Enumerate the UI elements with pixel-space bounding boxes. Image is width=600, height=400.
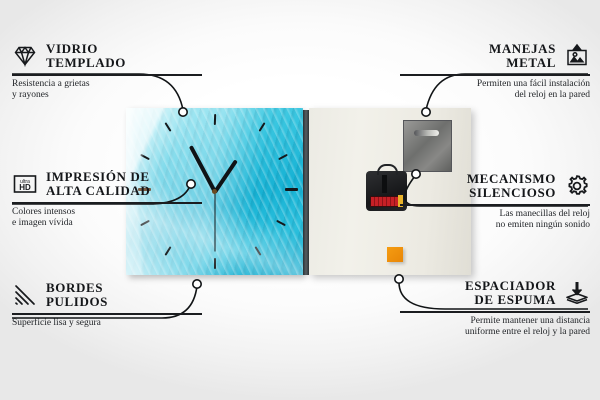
ultra-hd-icon-bottom: HD <box>19 183 31 192</box>
feature-divider <box>12 74 202 76</box>
feature-espaciador-espuma: ESPACIADOR DE ESPUMA Permite mantener un… <box>400 279 590 338</box>
foam-spacer-icon <box>564 280 590 306</box>
feature-title-line2: METAL <box>506 55 556 70</box>
feature-title: MECANISMO SILENCIOSO <box>467 172 556 200</box>
feature-description: Superficie lisa y segura <box>12 318 202 329</box>
feature-description: Permite mantener una distancia uniforme … <box>400 316 590 338</box>
clock-tick <box>258 122 265 132</box>
feature-desc-line2: no emiten ningún sonido <box>496 220 590 230</box>
picture-hanger-icon <box>564 43 590 69</box>
clock-tick <box>164 122 171 132</box>
feature-vidrio-templado: VIDRIO TEMPLADO Resistencia a grietas y … <box>12 42 202 101</box>
feature-title-line1: IMPRESIÓN DE <box>46 169 150 184</box>
clock-second-hand <box>214 192 215 252</box>
feature-divider <box>400 204 590 206</box>
feature-desc-line1: Permite mantener una distancia <box>471 316 591 326</box>
clock-tick <box>140 154 150 160</box>
feature-header: MECANISMO SILENCIOSO <box>400 172 590 200</box>
feature-desc-line1: Las manecillas del reloj <box>500 209 590 219</box>
clock-hour-hand <box>213 159 238 193</box>
feature-desc-line2: uniforme entre el reloj y la pared <box>465 327 590 337</box>
feature-title-line1: MECANISMO <box>467 171 556 186</box>
feature-desc-line1: Resistencia a grietas <box>12 79 90 89</box>
feature-desc-line1: Superficie lisa y segura <box>12 318 101 328</box>
feature-title: MANEJAS METAL <box>489 42 556 70</box>
feature-desc-line2: del reloj en la pared <box>515 90 590 100</box>
battery <box>370 196 403 207</box>
clock-tick <box>164 246 171 256</box>
feature-title: ESPACIADOR DE ESPUMA <box>465 279 556 307</box>
clock-tick <box>214 258 216 269</box>
feature-desc-line1: Permiten una fácil instalación <box>477 79 590 89</box>
feature-header: ultra HD IMPRESIÓN DE ALTA CALIDAD <box>12 170 202 198</box>
clock-tick <box>213 114 215 125</box>
feature-title-line1: MANEJAS <box>489 41 556 56</box>
feature-divider <box>12 313 202 315</box>
feature-title-line2: DE ESPUMA <box>474 292 556 307</box>
feature-title: VIDRIO TEMPLADO <box>46 42 126 70</box>
clock-tick <box>276 220 286 226</box>
feature-header: BORDES PULIDOS <box>12 281 202 309</box>
mechanism-shaft <box>382 175 387 193</box>
feature-mecanismo-silencioso: MECANISMO SILENCIOSO Las manecillas del … <box>400 172 590 231</box>
clock-tick <box>278 154 288 160</box>
feature-header: ESPACIADOR DE ESPUMA <box>400 279 590 307</box>
feature-impresion-alta-calidad: ultra HD IMPRESIÓN DE ALTA CALIDAD Color… <box>12 170 202 229</box>
feature-title: IMPRESIÓN DE ALTA CALIDAD <box>46 170 150 198</box>
hanger-slot <box>414 130 439 136</box>
polished-edges-icon <box>12 282 38 308</box>
clock-center-hub <box>212 189 217 194</box>
feature-title-line2: ALTA CALIDAD <box>46 183 150 198</box>
feature-desc-line2: y rayones <box>12 90 49 100</box>
feature-title-line2: SILENCIOSO <box>469 185 556 200</box>
diamond-icon <box>12 43 38 69</box>
feature-title: BORDES PULIDOS <box>46 281 108 309</box>
feature-title-line2: PULIDOS <box>46 294 108 309</box>
feature-title-line1: ESPACIADOR <box>465 278 556 293</box>
feature-bordes-pulidos: BORDES PULIDOS Superficie lisa y segura <box>12 281 202 329</box>
feature-description: Colores intensos e imagen vívida <box>12 207 202 229</box>
clock-tick <box>285 188 298 191</box>
feature-divider <box>400 311 590 313</box>
feature-title-line2: TEMPLADO <box>46 55 126 70</box>
mechanism-loop <box>377 164 398 175</box>
feature-header: VIDRIO TEMPLADO <box>12 42 202 70</box>
feature-desc-line1: Colores intensos <box>12 207 75 217</box>
feature-title-line1: BORDES <box>46 280 103 295</box>
feature-divider <box>12 202 202 204</box>
feature-description: Las manecillas del reloj no emiten ningú… <box>400 209 590 231</box>
feature-divider <box>400 74 590 76</box>
feature-desc-line2: e imagen vívida <box>12 218 73 228</box>
ultra-hd-icon: ultra HD <box>12 171 38 197</box>
infographic-canvas: VIDRIO TEMPLADO Resistencia a grietas y … <box>0 0 600 400</box>
feature-description: Permiten una fácil instalación del reloj… <box>400 79 590 101</box>
feature-header: MANEJAS METAL <box>400 42 590 70</box>
foam-spacer-pad <box>387 247 403 262</box>
clock-tick <box>254 246 261 256</box>
feature-description: Resistencia a grietas y rayones <box>12 79 202 101</box>
gear-icon <box>564 173 590 199</box>
feature-title-line1: VIDRIO <box>46 41 98 56</box>
feature-manejas-metal: MANEJAS METAL Permiten una fácil instala… <box>400 42 590 101</box>
metal-hanger-plate <box>403 120 452 172</box>
